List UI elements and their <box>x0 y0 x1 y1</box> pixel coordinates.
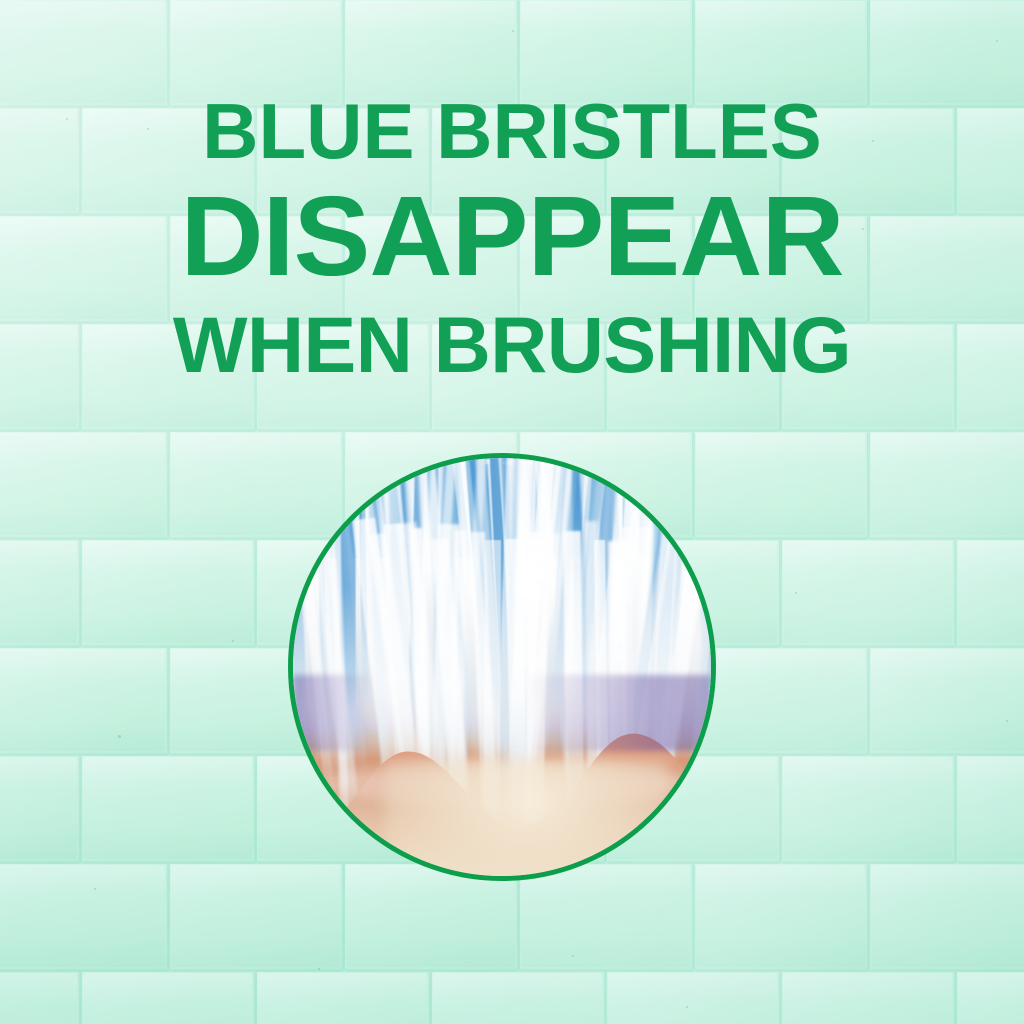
wall-tile <box>870 864 1024 972</box>
headline-line-2-emphasis: DISAPPEAR <box>0 180 1024 293</box>
wall-tile <box>695 432 870 540</box>
wall-tile <box>432 972 607 1024</box>
wall-tile <box>170 864 345 972</box>
wall-tile <box>870 648 1024 756</box>
headline-line-1: BLUE BRISTLES <box>0 92 1024 170</box>
wall-tile <box>82 972 257 1024</box>
wall-tile <box>782 756 957 864</box>
wall-tile <box>957 756 1024 864</box>
tooth-cream-area <box>385 759 669 876</box>
wall-tile <box>0 756 82 864</box>
bristle-closeup-image <box>293 458 711 876</box>
wall-tile <box>0 432 170 540</box>
wall-tile <box>82 756 257 864</box>
wall-tile <box>695 648 870 756</box>
wall-tile <box>0 540 82 648</box>
wall-tile <box>520 864 695 972</box>
tile-row <box>0 972 1024 1024</box>
wall-tile <box>957 972 1024 1024</box>
wall-tile <box>957 540 1024 648</box>
ad-creative-canvas: BLUE BRISTLES DISAPPEAR WHEN BRUSHING <box>0 0 1024 1024</box>
wall-tile <box>257 972 432 1024</box>
wall-tile <box>0 648 170 756</box>
wall-tile <box>782 540 957 648</box>
bristle-closeup-circle <box>288 453 716 881</box>
headline-line-3: WHEN BRUSHING <box>0 305 1024 384</box>
headline-block: BLUE BRISTLES DISAPPEAR WHEN BRUSHING <box>0 92 1024 384</box>
wall-tile <box>782 972 957 1024</box>
wall-tile <box>82 540 257 648</box>
wall-tile <box>0 972 82 1024</box>
wall-tile <box>870 432 1024 540</box>
wall-tile <box>695 864 870 972</box>
wall-tile <box>0 864 170 972</box>
wall-tile <box>607 972 782 1024</box>
